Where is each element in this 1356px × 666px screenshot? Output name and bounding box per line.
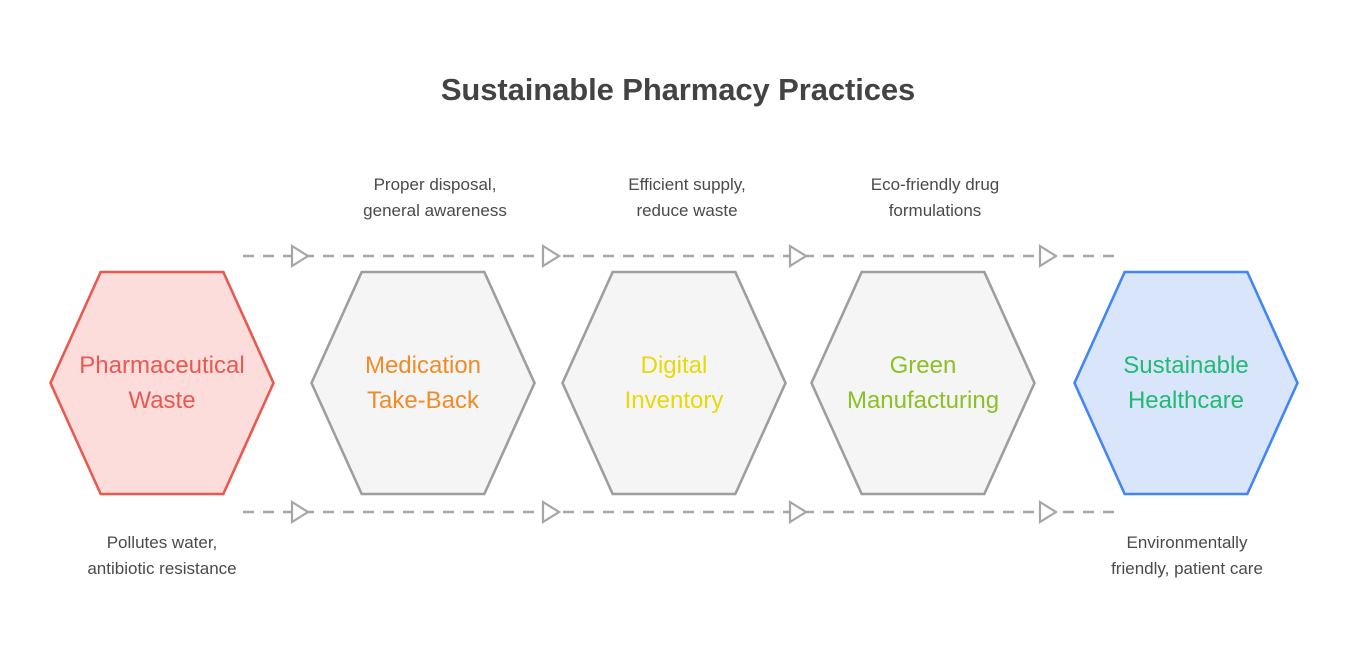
arrowhead-icon — [790, 246, 806, 266]
arrowhead-icon — [1040, 502, 1056, 522]
hexagon-node-medication-take-back[interactable] — [312, 272, 535, 494]
arrowhead-icon — [543, 246, 559, 266]
arrowhead-icon — [1040, 246, 1056, 266]
hexagon-node-green-manufacturing[interactable] — [812, 272, 1035, 494]
hexagon-node-sustainable-healthcare[interactable] — [1075, 272, 1298, 494]
caption-healthcare-outcome: Environmentally friendly, patient care — [1037, 530, 1337, 582]
hexagon-node-pharmaceutical-waste[interactable] — [51, 272, 274, 494]
arrowhead-icon — [790, 502, 806, 522]
arrowhead-icon — [292, 502, 308, 522]
caption-waste-impact: Pollutes water, antibiotic resistance — [12, 530, 312, 582]
hexagon-node-digital-inventory[interactable] — [563, 272, 786, 494]
arrowhead-icon — [292, 246, 308, 266]
flow-line-bottom — [243, 502, 1120, 522]
caption-manufacturing: Eco-friendly drug formulations — [785, 172, 1085, 224]
arrowhead-icon — [543, 502, 559, 522]
flow-line-top — [243, 246, 1120, 266]
